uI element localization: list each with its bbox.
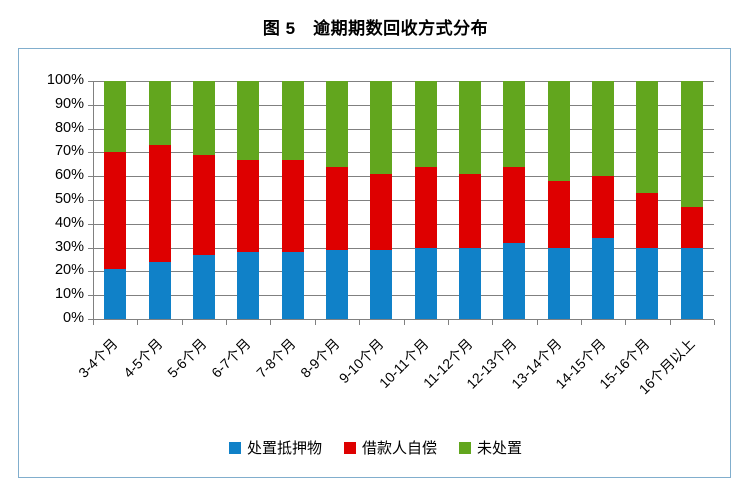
x-axis-tick-mark	[581, 320, 582, 325]
x-axis-tick-mark	[359, 320, 360, 325]
bar-segment[interactable]	[149, 262, 171, 319]
bar-segment[interactable]	[636, 81, 658, 193]
bar-segment[interactable]	[415, 167, 437, 248]
bar-segment[interactable]	[149, 145, 171, 262]
bar-segment[interactable]	[592, 81, 614, 176]
bar-segment[interactable]	[237, 81, 259, 160]
bar-segment[interactable]	[592, 176, 614, 238]
y-axis-tick-label: 90%	[19, 96, 84, 112]
x-axis-tick-mark	[93, 320, 94, 325]
bar-stack[interactable]	[326, 81, 348, 319]
legend-label: 借款人自偿	[362, 437, 437, 458]
bar-segment[interactable]	[681, 81, 703, 207]
bar-segment[interactable]	[503, 81, 525, 167]
bar-segment[interactable]	[282, 160, 304, 253]
bar-stack[interactable]	[193, 81, 215, 319]
bar-stack[interactable]	[681, 81, 703, 319]
x-axis-tick-mark	[137, 320, 138, 325]
bar-stack[interactable]	[636, 81, 658, 319]
bar-segment[interactable]	[370, 250, 392, 319]
bar-segment[interactable]	[459, 248, 481, 319]
bar-segment[interactable]	[104, 81, 126, 152]
y-axis-tick-label: 60%	[19, 167, 84, 183]
bar-segment[interactable]	[548, 181, 570, 248]
bar-stack[interactable]	[104, 81, 126, 319]
x-axis-tick-mark	[625, 320, 626, 325]
legend-swatch-icon	[459, 442, 471, 454]
y-axis-tick-label: 30%	[19, 239, 84, 255]
x-axis-tick-mark	[448, 320, 449, 325]
bar-segment[interactable]	[681, 207, 703, 247]
bar-segment[interactable]	[104, 269, 126, 319]
legend-label: 处置抵押物	[247, 437, 322, 458]
bar-segment[interactable]	[415, 248, 437, 319]
bar-segment[interactable]	[326, 167, 348, 250]
bar-stack[interactable]	[370, 81, 392, 319]
chart-frame: 0%10%20%30%40%50%60%70%80%90%100% 3-4个月4…	[18, 48, 731, 478]
bar-segment[interactable]	[592, 238, 614, 319]
bar-segment[interactable]	[681, 248, 703, 319]
x-axis-tick-mark	[492, 320, 493, 325]
bar-stack[interactable]	[282, 81, 304, 319]
chart-legend: 处置抵押物借款人自偿未处置	[19, 437, 732, 458]
bar-segment[interactable]	[548, 81, 570, 181]
bar-segment[interactable]	[193, 155, 215, 255]
x-axis-tick-mark	[226, 320, 227, 325]
plot-area	[93, 81, 714, 319]
legend-swatch-icon	[229, 442, 241, 454]
bar-segment[interactable]	[636, 248, 658, 319]
y-axis-tick-label: 100%	[19, 72, 84, 88]
x-axis-tick-mark	[270, 320, 271, 325]
y-axis-tick-label: 50%	[19, 191, 84, 207]
bar-stack[interactable]	[503, 81, 525, 319]
legend-item[interactable]: 处置抵押物	[229, 437, 322, 458]
y-axis-tick-label: 20%	[19, 262, 84, 278]
bar-stack[interactable]	[548, 81, 570, 319]
x-axis-tick-mark	[404, 320, 405, 325]
bar-segment[interactable]	[370, 81, 392, 174]
legend-item[interactable]: 借款人自偿	[344, 437, 437, 458]
x-axis-tick-mark	[315, 320, 316, 325]
bar-segment[interactable]	[237, 252, 259, 319]
x-axis-tick-mark	[714, 320, 715, 325]
bar-stack[interactable]	[592, 81, 614, 319]
x-axis-tick-mark	[537, 320, 538, 325]
bar-segment[interactable]	[503, 243, 525, 319]
bar-segment[interactable]	[459, 174, 481, 248]
bar-segment[interactable]	[548, 248, 570, 319]
bar-segment[interactable]	[370, 174, 392, 250]
bar-segment[interactable]	[459, 81, 481, 174]
bar-segment[interactable]	[282, 252, 304, 319]
x-axis-tick-mark	[182, 320, 183, 325]
chart-title: 图 5 逾期期数回收方式分布	[0, 14, 751, 39]
legend-swatch-icon	[344, 442, 356, 454]
bar-segment[interactable]	[282, 81, 304, 160]
bar-stack[interactable]	[149, 81, 171, 319]
y-axis-tick-label: 80%	[19, 120, 84, 136]
legend-item[interactable]: 未处置	[459, 437, 522, 458]
chart-figure: 图 5 逾期期数回收方式分布 0%10%20%30%40%50%60%70%80…	[0, 0, 751, 500]
bar-segment[interactable]	[237, 160, 259, 253]
bar-segment[interactable]	[104, 152, 126, 269]
bar-segment[interactable]	[326, 250, 348, 319]
bar-segment[interactable]	[503, 167, 525, 243]
y-axis-tick-label: 10%	[19, 286, 84, 302]
bar-segment[interactable]	[326, 81, 348, 167]
bar-segment[interactable]	[415, 81, 437, 167]
bar-stack[interactable]	[415, 81, 437, 319]
x-axis-tick-mark	[670, 320, 671, 325]
bar-segment[interactable]	[149, 81, 171, 145]
bar-segment[interactable]	[636, 193, 658, 248]
bar-segment[interactable]	[193, 81, 215, 155]
y-axis-tick-label: 70%	[19, 143, 84, 159]
legend-label: 未处置	[477, 437, 522, 458]
bar-segment[interactable]	[193, 255, 215, 319]
bar-stack[interactable]	[459, 81, 481, 319]
y-axis-tick-label: 40%	[19, 215, 84, 231]
bar-stack[interactable]	[237, 81, 259, 319]
y-axis-tick-label: 0%	[19, 310, 84, 326]
